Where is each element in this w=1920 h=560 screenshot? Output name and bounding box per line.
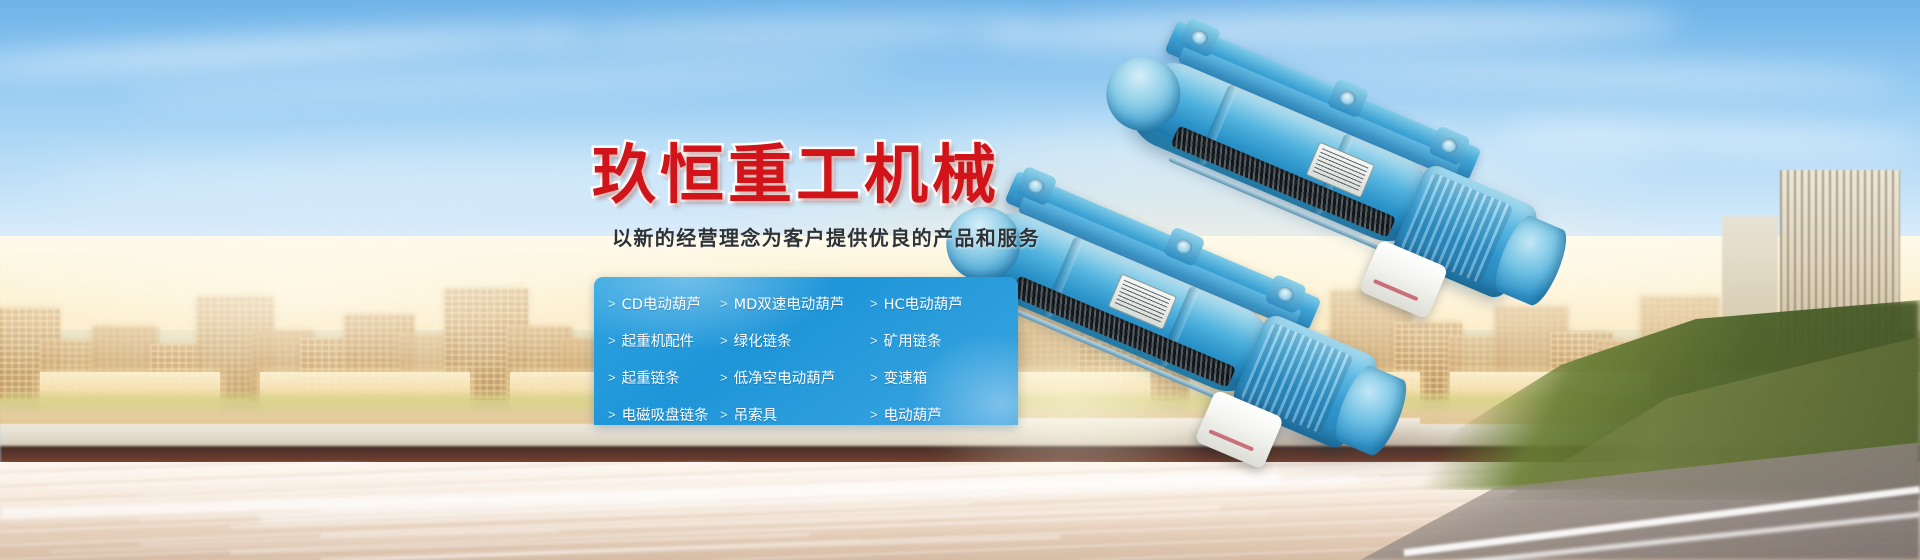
lug-hole [1026, 176, 1046, 195]
product-menu-panel: >CD电动葫芦>MD双速电动葫芦>HC电动葫芦>起重机配件>绿化链条>矿用链条>… [594, 277, 1018, 425]
product-menu-item-label: 吊索具 [734, 404, 778, 425]
product-menu-item[interactable]: >电动葫芦 [856, 396, 1018, 425]
product-menu-item[interactable]: >HC电动葫芦 [856, 285, 1018, 322]
chevron-right-icon: > [870, 407, 878, 422]
product-menu-item[interactable]: >变速箱 [856, 359, 1018, 396]
product-menu-item-label: 矿用链条 [884, 330, 942, 351]
product-menu-item[interactable]: >绿化链条 [720, 322, 856, 359]
product-menu-item[interactable]: >起重链条 [608, 359, 720, 396]
product-menu-item-label: HC电动葫芦 [884, 293, 963, 314]
banner-headline: 玖恒重工机械 [592, 124, 1000, 216]
chevron-right-icon: > [608, 407, 616, 422]
chevron-right-icon: > [870, 370, 878, 385]
control-box-stripe [1373, 279, 1419, 301]
lug-hole [1174, 237, 1194, 256]
chevron-right-icon: > [720, 370, 728, 385]
product-menu-item-label: CD电动葫芦 [622, 293, 701, 314]
chevron-right-icon: > [870, 333, 878, 348]
chevron-right-icon: > [870, 296, 878, 311]
product-menu-item[interactable]: >CD电动葫芦 [608, 285, 720, 322]
product-menu-item[interactable]: >低净空电动葫芦 [720, 359, 856, 396]
product-menu-grid: >CD电动葫芦>MD双速电动葫芦>HC电动葫芦>起重机配件>绿化链条>矿用链条>… [594, 277, 1018, 425]
hero-banner: 玖恒重工机械 以新的经营理念为客户提供优良的产品和服务 >CD电动葫芦>MD双速… [0, 0, 1920, 560]
product-photo-electric-hoists [1020, 50, 1640, 470]
lug-hole [1276, 284, 1296, 303]
product-menu-item[interactable]: >MD双速电动葫芦 [720, 285, 856, 322]
product-menu-item[interactable]: >电磁吸盘链条 [608, 396, 720, 425]
chevron-right-icon: > [608, 333, 616, 348]
control-box-stripe [1208, 429, 1254, 451]
product-menu-item[interactable]: >起重机配件 [608, 322, 720, 359]
product-menu-item-label: MD双速电动葫芦 [734, 293, 845, 314]
product-menu-item-label: 起重链条 [622, 367, 680, 388]
chevron-right-icon: > [608, 296, 616, 311]
product-menu-item-label: 低净空电动葫芦 [734, 367, 836, 388]
product-menu-item-label: 起重机配件 [622, 330, 695, 351]
lug-hole [1190, 28, 1210, 47]
chevron-right-icon: > [608, 370, 616, 385]
product-menu-item[interactable]: >吊索具 [720, 396, 856, 425]
product-menu-item[interactable]: >矿用链条 [856, 322, 1018, 359]
product-menu-item-label: 绿化链条 [734, 330, 792, 351]
chevron-right-icon: > [720, 296, 728, 311]
lug-hole [1439, 136, 1459, 155]
banner-subtitle: 以新的经营理念为客户提供优良的产品和服务 [612, 222, 1040, 251]
chevron-right-icon: > [720, 333, 728, 348]
lug-hole [1338, 89, 1358, 108]
product-menu-item-label: 电磁吸盘链条 [622, 404, 709, 425]
product-menu-item-label: 电动葫芦 [884, 404, 942, 425]
chevron-right-icon: > [720, 407, 728, 422]
product-menu-item-label: 变速箱 [884, 367, 928, 388]
